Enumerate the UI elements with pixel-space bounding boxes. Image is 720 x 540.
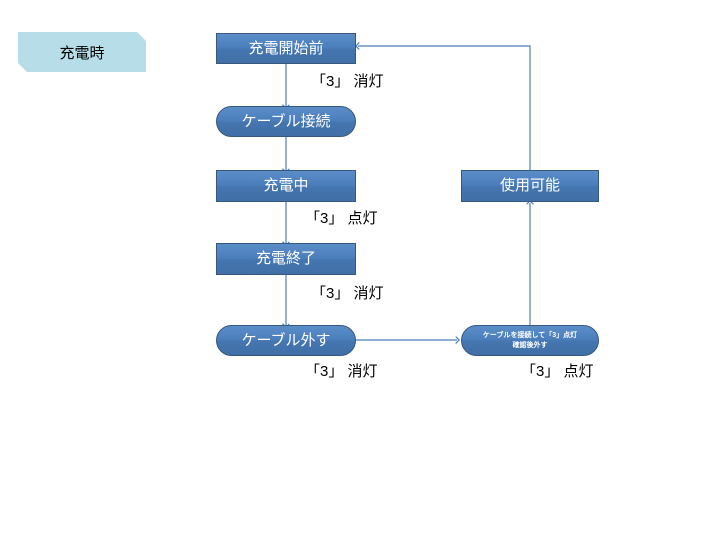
- title-callout: 充電時: [18, 32, 146, 72]
- node-cable-remove-label: ケーブル外す: [241, 332, 330, 349]
- edge-label-charge-end: 「3」 消灯: [311, 282, 384, 303]
- edge-label-reconnect: 「3」 点灯: [521, 360, 594, 381]
- edge-label-charge-end-text: 「3」 消灯: [311, 285, 384, 302]
- connector-available-to-before-charge: [358, 46, 530, 170]
- node-reconnect-confirm-line1: ケーブルを接続して「3」点灯: [483, 331, 577, 340]
- node-charge-end[interactable]: 充電終了: [216, 243, 356, 275]
- node-available[interactable]: 使用可能: [461, 170, 599, 202]
- node-cable-connect-label: ケーブル接続: [241, 113, 330, 130]
- node-cable-remove[interactable]: ケーブル外す: [216, 325, 356, 356]
- node-cable-connect[interactable]: ケーブル接続: [216, 106, 356, 137]
- node-before-charge-label: 充電開始前: [248, 40, 323, 57]
- edge-label-reconnect-text: 「3」 点灯: [521, 363, 594, 380]
- node-charge-end-label: 充電終了: [256, 250, 316, 267]
- edge-label-cable-remove-text: 「3」 消灯: [305, 363, 378, 380]
- title-callout-label: 充電時: [59, 42, 104, 63]
- edge-label-before-charge-text: 「3」 消灯: [311, 73, 384, 90]
- edge-label-before-charge: 「3」 消灯: [311, 70, 384, 91]
- diagram-canvas: 充電時 充電開始前 ケーブル接続 充電中 充電終了 ケーブル外す 使用可能 ケー…: [0, 0, 720, 540]
- node-charging-label: 充電中: [263, 177, 308, 194]
- edge-label-charging-text: 「3」 点灯: [305, 210, 378, 227]
- edge-label-charging: 「3」 点灯: [305, 207, 378, 228]
- node-available-label: 使用可能: [500, 177, 560, 194]
- node-reconnect-confirm-line2: 確認後外す: [513, 341, 548, 350]
- node-charging[interactable]: 充電中: [216, 170, 356, 202]
- edge-label-cable-remove: 「3」 消灯: [305, 360, 378, 381]
- node-before-charge[interactable]: 充電開始前: [216, 33, 356, 64]
- node-reconnect-confirm[interactable]: ケーブルを接続して「3」点灯 確認後外す: [461, 325, 599, 356]
